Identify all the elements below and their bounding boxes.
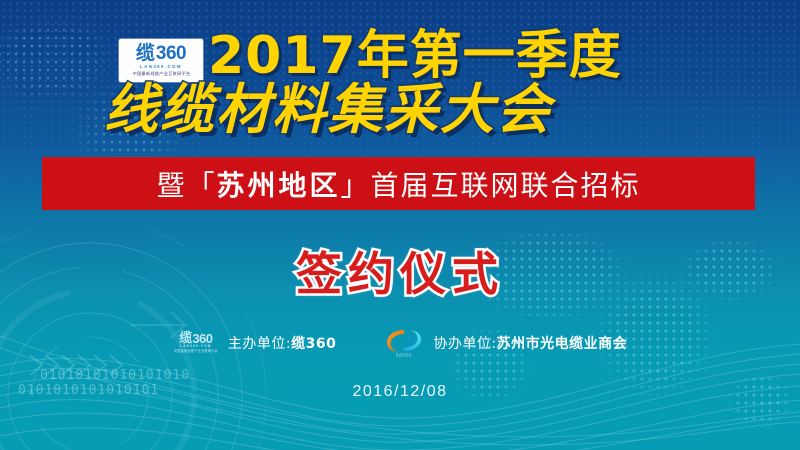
sponsors-row: 缆 360 LAN360.COM 中国最新线缆产业互联网平台 主办单位:缆360: [0, 328, 800, 358]
subtitle-suffix: 」首届互联网联合招标: [341, 164, 641, 204]
organizer-name: 缆360: [291, 336, 336, 352]
subtitle-text: 暨「 苏州地区 」首届互联网联合招标: [156, 164, 640, 204]
subtitle-red-banner: 暨「 苏州地区 」首届互联网联合招标: [42, 157, 755, 210]
mini-logo-tagline: 中国最新线缆产业互联网平台: [174, 350, 218, 353]
ceremony-headline: 签约仪式: [0, 238, 800, 304]
lan360-mini-logo: 缆 360 LAN360.COM 中国最新线缆产业互联网平台: [173, 329, 219, 357]
organizer-label: 主办单位:缆360: [228, 333, 336, 353]
logo-mark-cn: 缆: [136, 44, 155, 63]
sponsor-co-organizer: SZSOC 协办单位:苏州市光电缆业商会: [384, 328, 627, 358]
event-date: 2016/12/08: [0, 383, 800, 401]
co-organizer-name: 苏州市光电缆业商会: [497, 336, 628, 352]
organizer-role: 主办单位:: [228, 336, 291, 352]
title-line-2: 线缆材料集采大会: [104, 83, 552, 137]
title-line-1: 2017年第一季度: [208, 30, 622, 82]
logo-tagline: 中国最新线缆产业互联网平台: [132, 71, 190, 77]
event-poster: 01010101010101010 0101010101010101 缆 360…: [0, 0, 800, 450]
logo-mark-number: 360: [156, 44, 186, 63]
co-organizer-role: 协办单位:: [433, 336, 496, 352]
svg-text:SZSOC: SZSOC: [396, 353, 412, 358]
co-organizer-label: 协办单位:苏州市光电缆业商会: [433, 333, 627, 353]
lan360-logo: 缆 360 LAN360.COM 中国最新线缆产业互联网平台: [119, 39, 203, 82]
logo-url: LAN360.COM: [140, 64, 182, 69]
subtitle-prefix: 暨「: [156, 164, 216, 204]
swirl-logo-icon: SZSOC: [384, 328, 424, 358]
binary-line-1: 01010101010101010: [40, 368, 190, 383]
subtitle-region: 苏州地区: [216, 164, 340, 204]
sponsor-organizer: 缆 360 LAN360.COM 中国最新线缆产业互联网平台 主办单位:缆360: [173, 329, 336, 357]
logo-wordmark: 缆 360: [136, 44, 186, 63]
